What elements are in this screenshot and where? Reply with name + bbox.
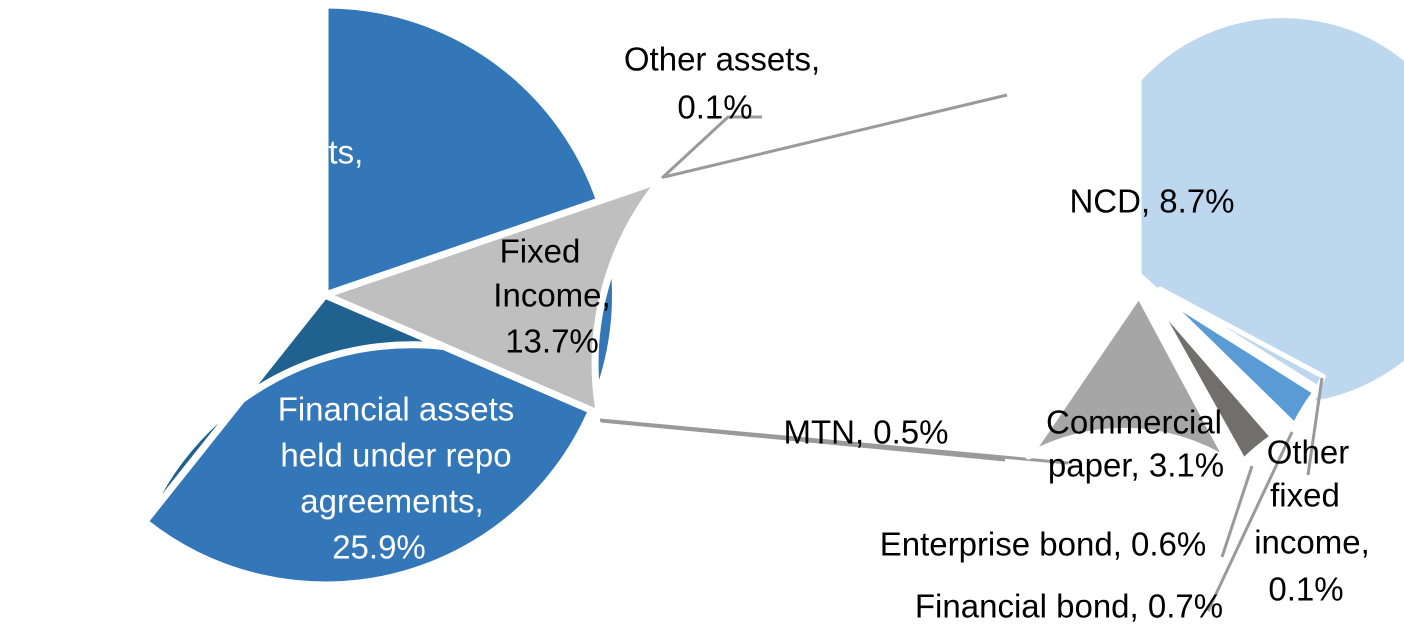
chart-canvas: Bank deposits, 60.3% Other assets, 0.1% …	[0, 0, 1404, 644]
label-bank-deposits-line2: 60.3%	[181, 177, 275, 214]
label-other-assets-line2: 0.1%	[677, 89, 752, 126]
label-repo-line2: held under repo	[280, 437, 511, 474]
label-mtn: MTN, 0.5%	[783, 414, 948, 451]
label-enterprise-bond: Enterprise bond, 0.6%	[880, 526, 1207, 563]
label-other-assets: Other assets, 0.1%	[624, 41, 820, 126]
label-other-fixed-line3: income,	[1254, 524, 1370, 561]
detail-pie-group	[983, 15, 1404, 463]
pie-chart-figure: Bank deposits, 60.3% Other assets, 0.1% …	[0, 0, 1404, 644]
label-ncd: NCD, 8.7%	[1069, 183, 1234, 220]
label-fixed-income-line1: Fixed	[500, 233, 581, 270]
label-other-assets-line1: Other assets,	[624, 41, 820, 78]
label-commercial-paper-line1: Commercial	[1046, 404, 1222, 441]
label-other-fixed-line4: 0.1%	[1268, 571, 1343, 608]
label-repo-line4: 25.9%	[332, 529, 426, 566]
label-bank-deposits-line1: Bank deposits,	[147, 134, 363, 171]
label-fixed-income-line3: 13.7%	[505, 323, 599, 360]
label-mtn-text: MTN, 0.5%	[783, 414, 948, 451]
label-repo-line1: Financial assets	[278, 391, 515, 428]
label-repo-line3: agreements,	[300, 483, 483, 520]
label-fixed-income-line2: Income,	[493, 277, 610, 314]
label-other-fixed-line2: fixed	[1270, 477, 1340, 514]
leader-enterprise-bond	[1222, 466, 1252, 557]
leader-other-assets	[662, 117, 762, 178]
label-enterprise-bond-text: Enterprise bond, 0.6%	[880, 526, 1207, 563]
label-ncd-text: NCD, 8.7%	[1069, 183, 1234, 220]
label-other-fixed-line1: Other	[1267, 434, 1350, 471]
label-other-fixed-income: Other fixed income, 0.1%	[1254, 434, 1370, 608]
label-commercial-paper-line2: paper, 3.1%	[1048, 447, 1224, 484]
label-financial-bond-text: Financial bond, 0.7%	[915, 588, 1223, 625]
label-financial-bond: Financial bond, 0.7%	[915, 588, 1223, 625]
